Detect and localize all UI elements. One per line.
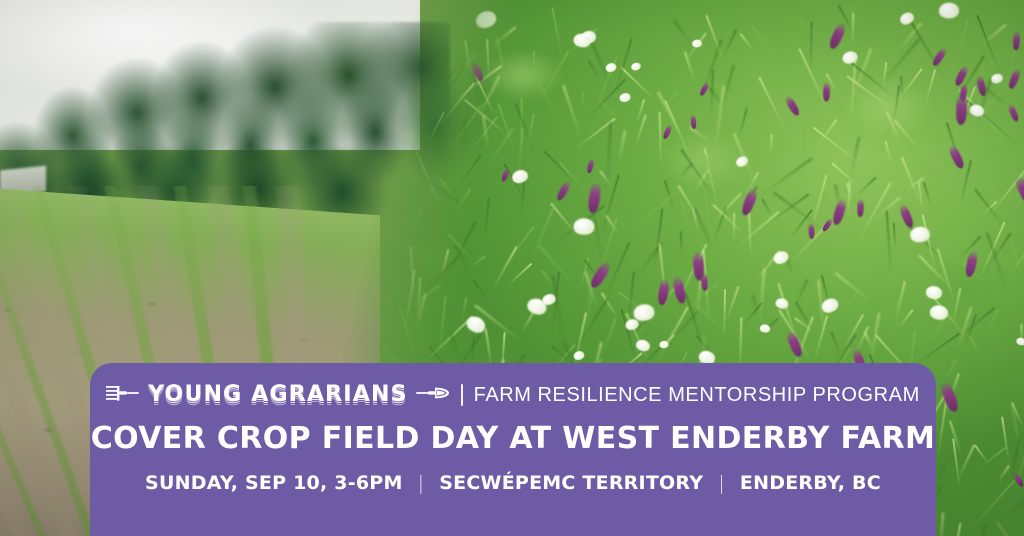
brand-divider xyxy=(461,384,463,406)
grass-blade xyxy=(1001,416,1010,462)
vetch-flower xyxy=(808,222,814,238)
grass-blade xyxy=(830,332,842,357)
grass-blade xyxy=(795,279,808,305)
event-info-banner: YOUNG AGRARIANS FARM RESILIENCE MENT xyxy=(90,363,936,536)
grass-blade xyxy=(997,464,1010,482)
pea-blossom xyxy=(1015,336,1024,346)
grass-blade xyxy=(673,20,692,45)
grass-blade xyxy=(393,21,416,40)
grass-blade xyxy=(391,29,399,56)
grass-blade xyxy=(939,512,944,536)
vetch-flower xyxy=(955,95,967,126)
grass-blade xyxy=(419,57,422,79)
grass-blade xyxy=(599,170,612,186)
pea-blossom xyxy=(604,62,617,73)
grass-blade xyxy=(928,317,946,347)
grass-blade xyxy=(974,445,989,464)
grass-blade xyxy=(893,223,896,249)
grass-blade xyxy=(404,41,430,85)
vetch-flower xyxy=(784,95,801,117)
pea-blossom xyxy=(990,73,1004,85)
grass-blade xyxy=(996,522,1024,536)
grass-blade xyxy=(739,33,754,52)
detail-separator-1: | xyxy=(418,472,425,494)
pea-blossom xyxy=(473,8,498,30)
grass-blade xyxy=(813,126,860,163)
pea-blossom xyxy=(659,340,669,348)
vetch-flower xyxy=(1013,31,1021,50)
vetch-flower xyxy=(587,158,595,174)
pea-blossom xyxy=(692,39,702,48)
grass-blade xyxy=(552,7,565,63)
grass-blade xyxy=(368,224,387,245)
vetch-flower xyxy=(1007,103,1019,122)
grass-blade xyxy=(788,67,803,88)
grass-blade xyxy=(626,192,677,237)
grass-blade xyxy=(980,524,987,536)
grass-blade xyxy=(997,487,1024,524)
grass-blade xyxy=(529,202,556,263)
pea-blossom xyxy=(618,92,631,103)
grass-blade xyxy=(990,124,1024,172)
grass-blade xyxy=(562,85,582,140)
vetch-flower xyxy=(898,203,915,229)
vetch-flower xyxy=(823,82,830,101)
grass-blade xyxy=(949,522,961,536)
grass-blade xyxy=(922,182,931,205)
grass-blade xyxy=(798,48,830,112)
young-agrarians-logo[interactable]: YOUNG AGRARIANS xyxy=(106,383,449,408)
brand-line: YOUNG AGRARIANS FARM RESILIENCE MENT xyxy=(90,380,936,410)
grass-blade xyxy=(536,50,569,107)
pea-blossom xyxy=(573,218,594,235)
vetch-flower xyxy=(827,21,847,50)
grass-blade xyxy=(759,158,813,198)
grass-blade xyxy=(461,297,467,321)
grass-blade xyxy=(750,25,791,76)
grass-blade xyxy=(884,140,891,164)
vetch-flower xyxy=(857,199,864,217)
grass-blade xyxy=(658,112,661,168)
grass-blade xyxy=(452,155,481,196)
grass-blade xyxy=(725,286,739,322)
shovel-icon xyxy=(416,383,450,408)
grass-blade xyxy=(952,287,961,323)
grass-blade xyxy=(450,332,459,360)
event-headline: COVER CROP FIELD DAY AT WEST ENDERBY FAR… xyxy=(90,423,936,455)
grass-blade xyxy=(507,263,532,286)
grass-blade xyxy=(473,279,487,297)
grass-blade xyxy=(856,177,876,196)
event-date-time: SUNDAY, SEP 10, 3-6PM xyxy=(145,472,403,494)
pea-blossom xyxy=(938,2,958,18)
grass-blade xyxy=(935,463,946,482)
grass-blade xyxy=(1008,220,1024,276)
grass-blade xyxy=(689,127,712,144)
grass-blade xyxy=(680,230,683,256)
grass-blade xyxy=(851,13,854,46)
grass-blade xyxy=(491,26,517,48)
pitchfork-icon xyxy=(106,383,140,408)
vetch-flower xyxy=(671,276,686,305)
grass-blade xyxy=(573,298,608,353)
grass-blade xyxy=(969,335,984,359)
grass-blade xyxy=(838,292,858,316)
detail-separator-2: | xyxy=(718,472,725,494)
event-location: ENDERBY, BC xyxy=(740,472,881,494)
grass-blade xyxy=(402,208,424,241)
event-poster: YOUNG AGRARIANS FARM RESILIENCE MENT xyxy=(0,0,1024,536)
pea-blossom xyxy=(925,285,943,300)
grass-blade xyxy=(483,197,490,243)
grass-blade xyxy=(854,98,869,146)
grass-blade xyxy=(662,148,675,164)
grass-blade xyxy=(530,70,563,129)
vetch-flower xyxy=(947,143,966,169)
event-details: SUNDAY, SEP 10, 3-6PM | SECWÉPEMC TERRIT… xyxy=(90,472,936,494)
pea-blossom xyxy=(634,338,651,353)
vetch-flower xyxy=(657,278,670,305)
grass-blade xyxy=(886,210,892,276)
grass-blade xyxy=(898,309,913,328)
program-name: FARM RESILIENCE MENTORSHIP PROGRAM xyxy=(474,384,920,407)
grass-blade xyxy=(464,120,466,160)
grass-blade xyxy=(606,122,612,192)
grass-blade xyxy=(491,246,518,292)
grass-blade xyxy=(602,317,617,353)
pea-blossom xyxy=(929,304,949,321)
grass-blade xyxy=(831,162,858,186)
grass-blade xyxy=(580,91,585,110)
grass-blade xyxy=(350,261,396,308)
wordmark-text: YOUNG AGRARIANS xyxy=(148,384,407,406)
vetch-flower xyxy=(662,124,673,140)
event-territory: SECWÉPEMC TERRITORY xyxy=(439,472,703,494)
grass-blade xyxy=(538,245,580,292)
pea-blossom xyxy=(630,62,641,72)
grass-blade xyxy=(543,151,574,182)
grass-blade xyxy=(402,136,410,167)
grass-blade xyxy=(721,29,737,60)
grass-blade xyxy=(416,254,459,300)
vetch-flower xyxy=(976,76,987,97)
grass-blade xyxy=(618,130,626,163)
vetch-flower xyxy=(555,180,571,201)
